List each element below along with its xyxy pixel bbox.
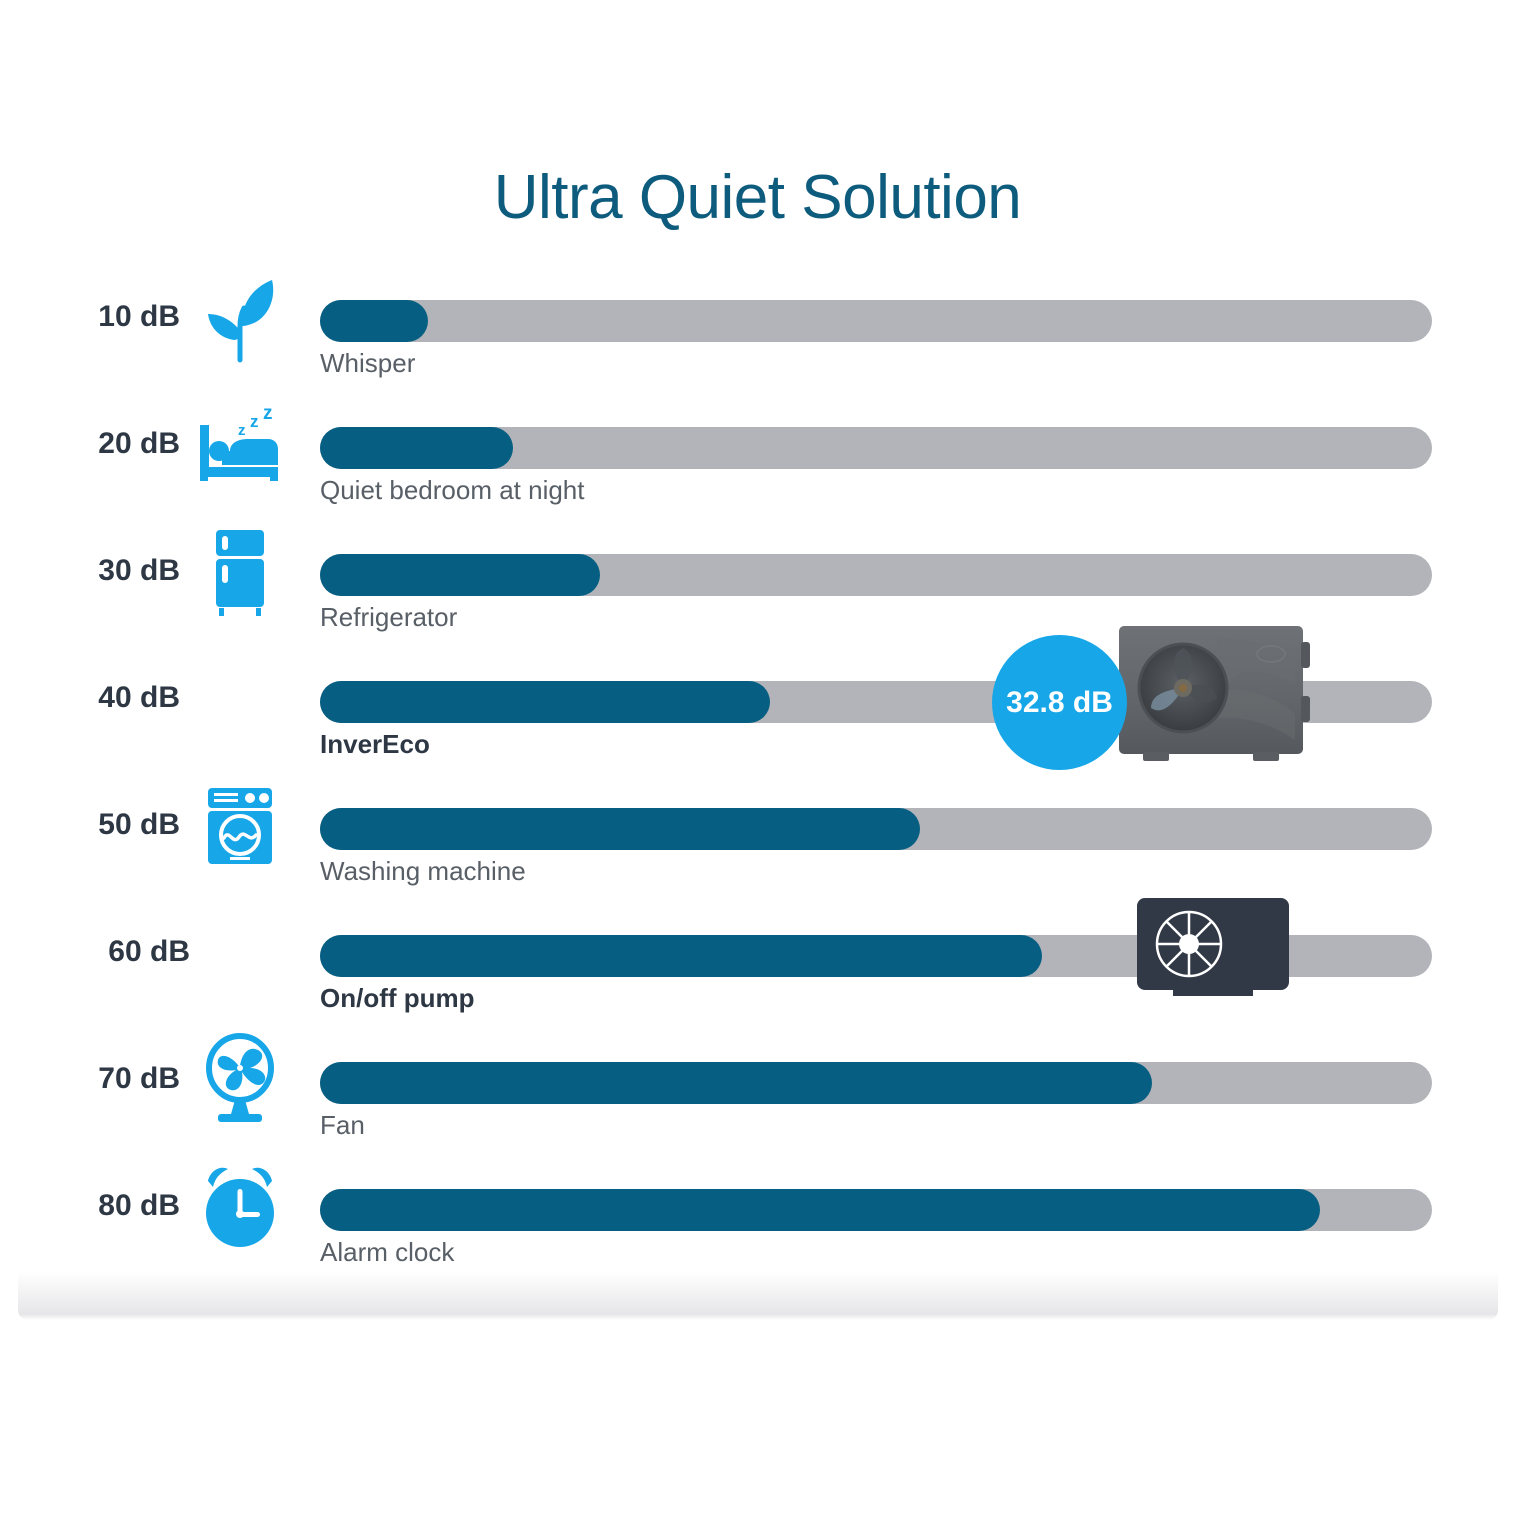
bar-caption-quiet-bedroom: Quiet bedroom at night (320, 475, 585, 506)
bar-track-quiet-bedroom (320, 427, 1432, 469)
db-tick-label-10: 10 dB (0, 300, 180, 334)
bar-track-fan (320, 1062, 1432, 1104)
bar-track-alarm-clock (320, 1189, 1432, 1231)
db-tick-label-60: 60 dB (0, 935, 190, 969)
bar-caption-whisper: Whisper (320, 348, 415, 379)
bar-track-refrigerator (320, 554, 1432, 596)
bar-fill-invereco (320, 681, 770, 723)
bar-fill-whisper (320, 300, 428, 342)
bar-caption-onoff-pump: On/off pump (320, 983, 475, 1014)
alarm-clock-icon (192, 1159, 288, 1255)
svg-text:z: z (250, 412, 259, 431)
db-tick-label-40: 40 dB (0, 681, 180, 715)
bar-caption-washing-machine: Washing machine (320, 856, 526, 887)
svg-text:z: z (263, 403, 273, 424)
bottom-shadow-band (18, 1272, 1498, 1320)
onoff-pump-image (1133, 896, 1293, 1001)
bar-fill-onoff-pump (320, 935, 1042, 977)
fan-icon (192, 1032, 288, 1128)
bar-fill-fan (320, 1062, 1152, 1104)
plant-icon (192, 270, 288, 366)
bar-caption-invereco: InverEco (320, 729, 430, 760)
bar-caption-alarm-clock: Alarm clock (320, 1237, 454, 1268)
db-tick-label-30: 30 dB (0, 554, 180, 588)
refrigerator-icon (192, 524, 288, 620)
bar-fill-refrigerator (320, 554, 600, 596)
db-tick-label-20: 20 dB (0, 427, 180, 461)
bed-sleep-icon: z z z (192, 397, 288, 493)
db-tick-label-80: 80 dB (0, 1189, 180, 1223)
inverter-heat-pump-image (1113, 620, 1321, 772)
infographic-canvas: Ultra Quiet Solution 10 dB Whisper 20 dB (0, 0, 1515, 1515)
washing-machine-icon (192, 778, 288, 874)
bar-fill-alarm-clock (320, 1189, 1320, 1231)
status-badge-db-callout: 32.8 dB (992, 635, 1127, 770)
page-title: Ultra Quiet Solution (0, 162, 1515, 233)
bar-fill-washing-machine (320, 808, 920, 850)
bar-track-whisper (320, 300, 1432, 342)
bar-caption-refrigerator: Refrigerator (320, 602, 457, 633)
bar-caption-fan: Fan (320, 1110, 365, 1141)
bar-fill-quiet-bedroom (320, 427, 513, 469)
db-tick-label-70: 70 dB (0, 1062, 180, 1096)
bar-track-washing-machine (320, 808, 1432, 850)
db-tick-label-50: 50 dB (0, 808, 180, 842)
svg-text:z: z (238, 422, 246, 439)
